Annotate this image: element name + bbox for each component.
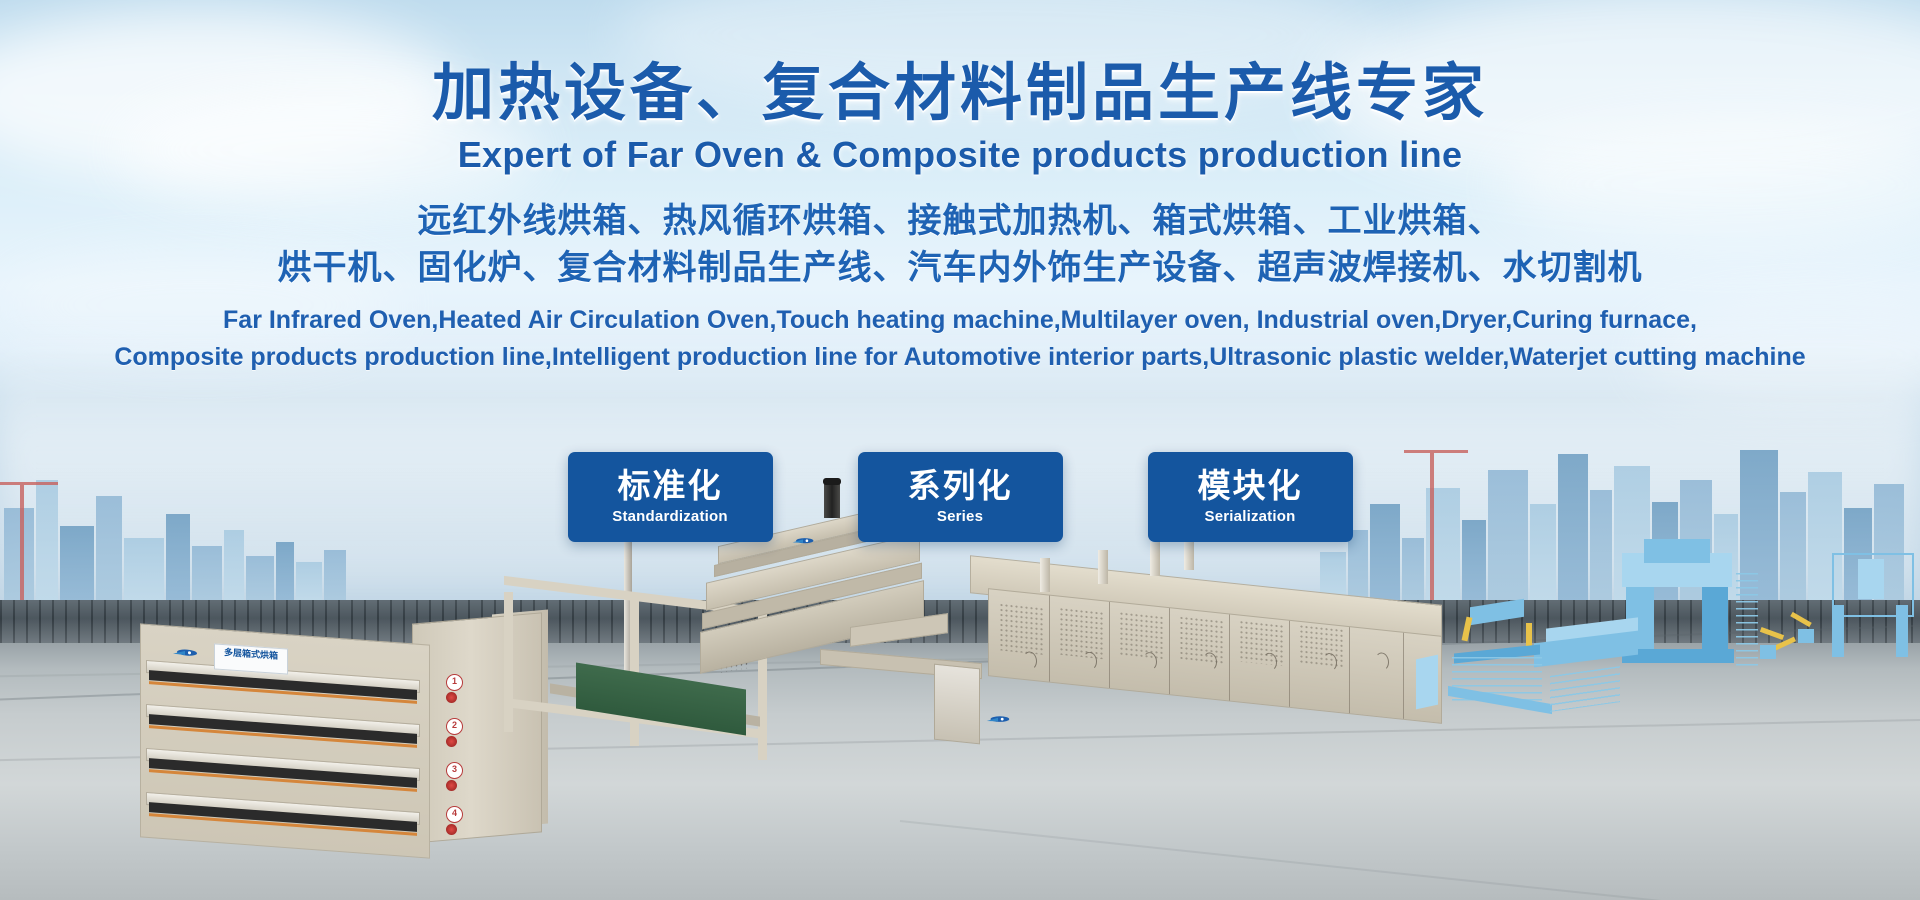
page-title-cn: 加热设备、复合材料制品生产线专家 — [0, 62, 1920, 124]
blue-press-head — [1644, 539, 1710, 563]
oven-layer-number: 4 — [446, 806, 463, 823]
badge-label-cn: 系列化 — [908, 469, 1013, 504]
hero-banner: 多层箱式烘箱 1 2 3 4 — [0, 0, 1920, 900]
badge-standardization[interactable]: 标准化 Standardization — [568, 452, 773, 542]
badge-serialization[interactable]: 模块化 Serialization — [1148, 452, 1353, 542]
oven-nameplate-text: 多层箱式烘箱 — [224, 648, 278, 662]
blue-gantry-leg — [1896, 605, 1908, 657]
product-list-en-line-2: Composite products production line,Intel… — [0, 339, 1920, 376]
blue-conveyor-rail — [1550, 666, 1620, 712]
product-list-en-line-1: Far Infrared Oven,Heated Air Circulation… — [0, 302, 1920, 339]
badge-series[interactable]: 系列化 Series — [858, 452, 1063, 542]
feature-badges: 标准化 Standardization 系列化 Series 模块化 Seria… — [0, 452, 1920, 542]
badge-label-en: Series — [937, 508, 983, 525]
robot-arm-segment — [1790, 612, 1812, 627]
oven-brand-logo-icon — [170, 647, 200, 662]
robot-base — [1798, 629, 1814, 643]
product-list-cn-line-2: 烘干机、固化炉、复合材料制品生产线、汽车内外饰生产设备、超声波焊接机、水切割机 — [0, 245, 1920, 292]
badge-label-cn: 标准化 — [618, 469, 723, 504]
oven-layer-knob[interactable] — [446, 736, 457, 747]
robot-arm-segment — [1760, 627, 1784, 640]
oven-layer-number: 2 — [446, 718, 463, 735]
blue-actuator — [1462, 617, 1473, 642]
blue-access-ladder — [1736, 573, 1758, 669]
badge-label-cn: 模块化 — [1198, 469, 1303, 504]
machine-multilayer-oven: 多层箱式烘箱 1 2 3 4 — [140, 626, 540, 871]
tunnel-oven-inlet-module — [934, 664, 980, 745]
badge-label-en: Standardization — [612, 508, 728, 525]
robot-base — [1760, 645, 1776, 659]
oven-nameplate: 多层箱式烘箱 — [214, 643, 288, 674]
page-title-en: Expert of Far Oven & Composite products … — [0, 136, 1920, 174]
oven-layer-number: 3 — [446, 762, 463, 779]
blue-hood — [1470, 599, 1524, 626]
product-list-cn-line-1: 远红外线烘箱、热风循环烘箱、接触式加热机、箱式烘箱、工业烘箱、 — [0, 198, 1920, 245]
oven-layer-number: 1 — [446, 674, 463, 691]
tunnel-oven-exhaust-stack — [1098, 550, 1108, 584]
badge-label-en: Serialization — [1205, 508, 1296, 525]
frame-post — [504, 592, 513, 732]
tunnel-oven-exhaust-stack — [1040, 558, 1050, 592]
robot-arm-segment — [1774, 637, 1796, 651]
oven-layer-knob[interactable] — [446, 780, 457, 791]
oven-layer-knob[interactable] — [446, 824, 457, 835]
machine-tunnel-oven — [970, 580, 1490, 800]
blue-side-panel — [1416, 655, 1438, 710]
tunnel-oven-brand-logo-icon — [984, 714, 1012, 727]
machine-blue-automation-line — [1430, 545, 1920, 795]
tunnel-oven-exhaust-stack — [1150, 542, 1160, 576]
banner-text-block: 加热设备、复合材料制品生产线专家 Expert of Far Oven & Co… — [0, 0, 1920, 376]
product-list-en: Far Infrared Oven,Heated Air Circulation… — [0, 302, 1920, 376]
oven-layer-knob[interactable] — [446, 692, 457, 703]
blue-gantry-leg — [1832, 605, 1844, 657]
blue-press-bed — [1622, 649, 1734, 663]
product-list-cn: 远红外线烘箱、热风循环烘箱、接触式加热机、箱式烘箱、工业烘箱、 烘干机、固化炉、… — [0, 198, 1920, 292]
blue-gantry-core — [1858, 559, 1884, 599]
